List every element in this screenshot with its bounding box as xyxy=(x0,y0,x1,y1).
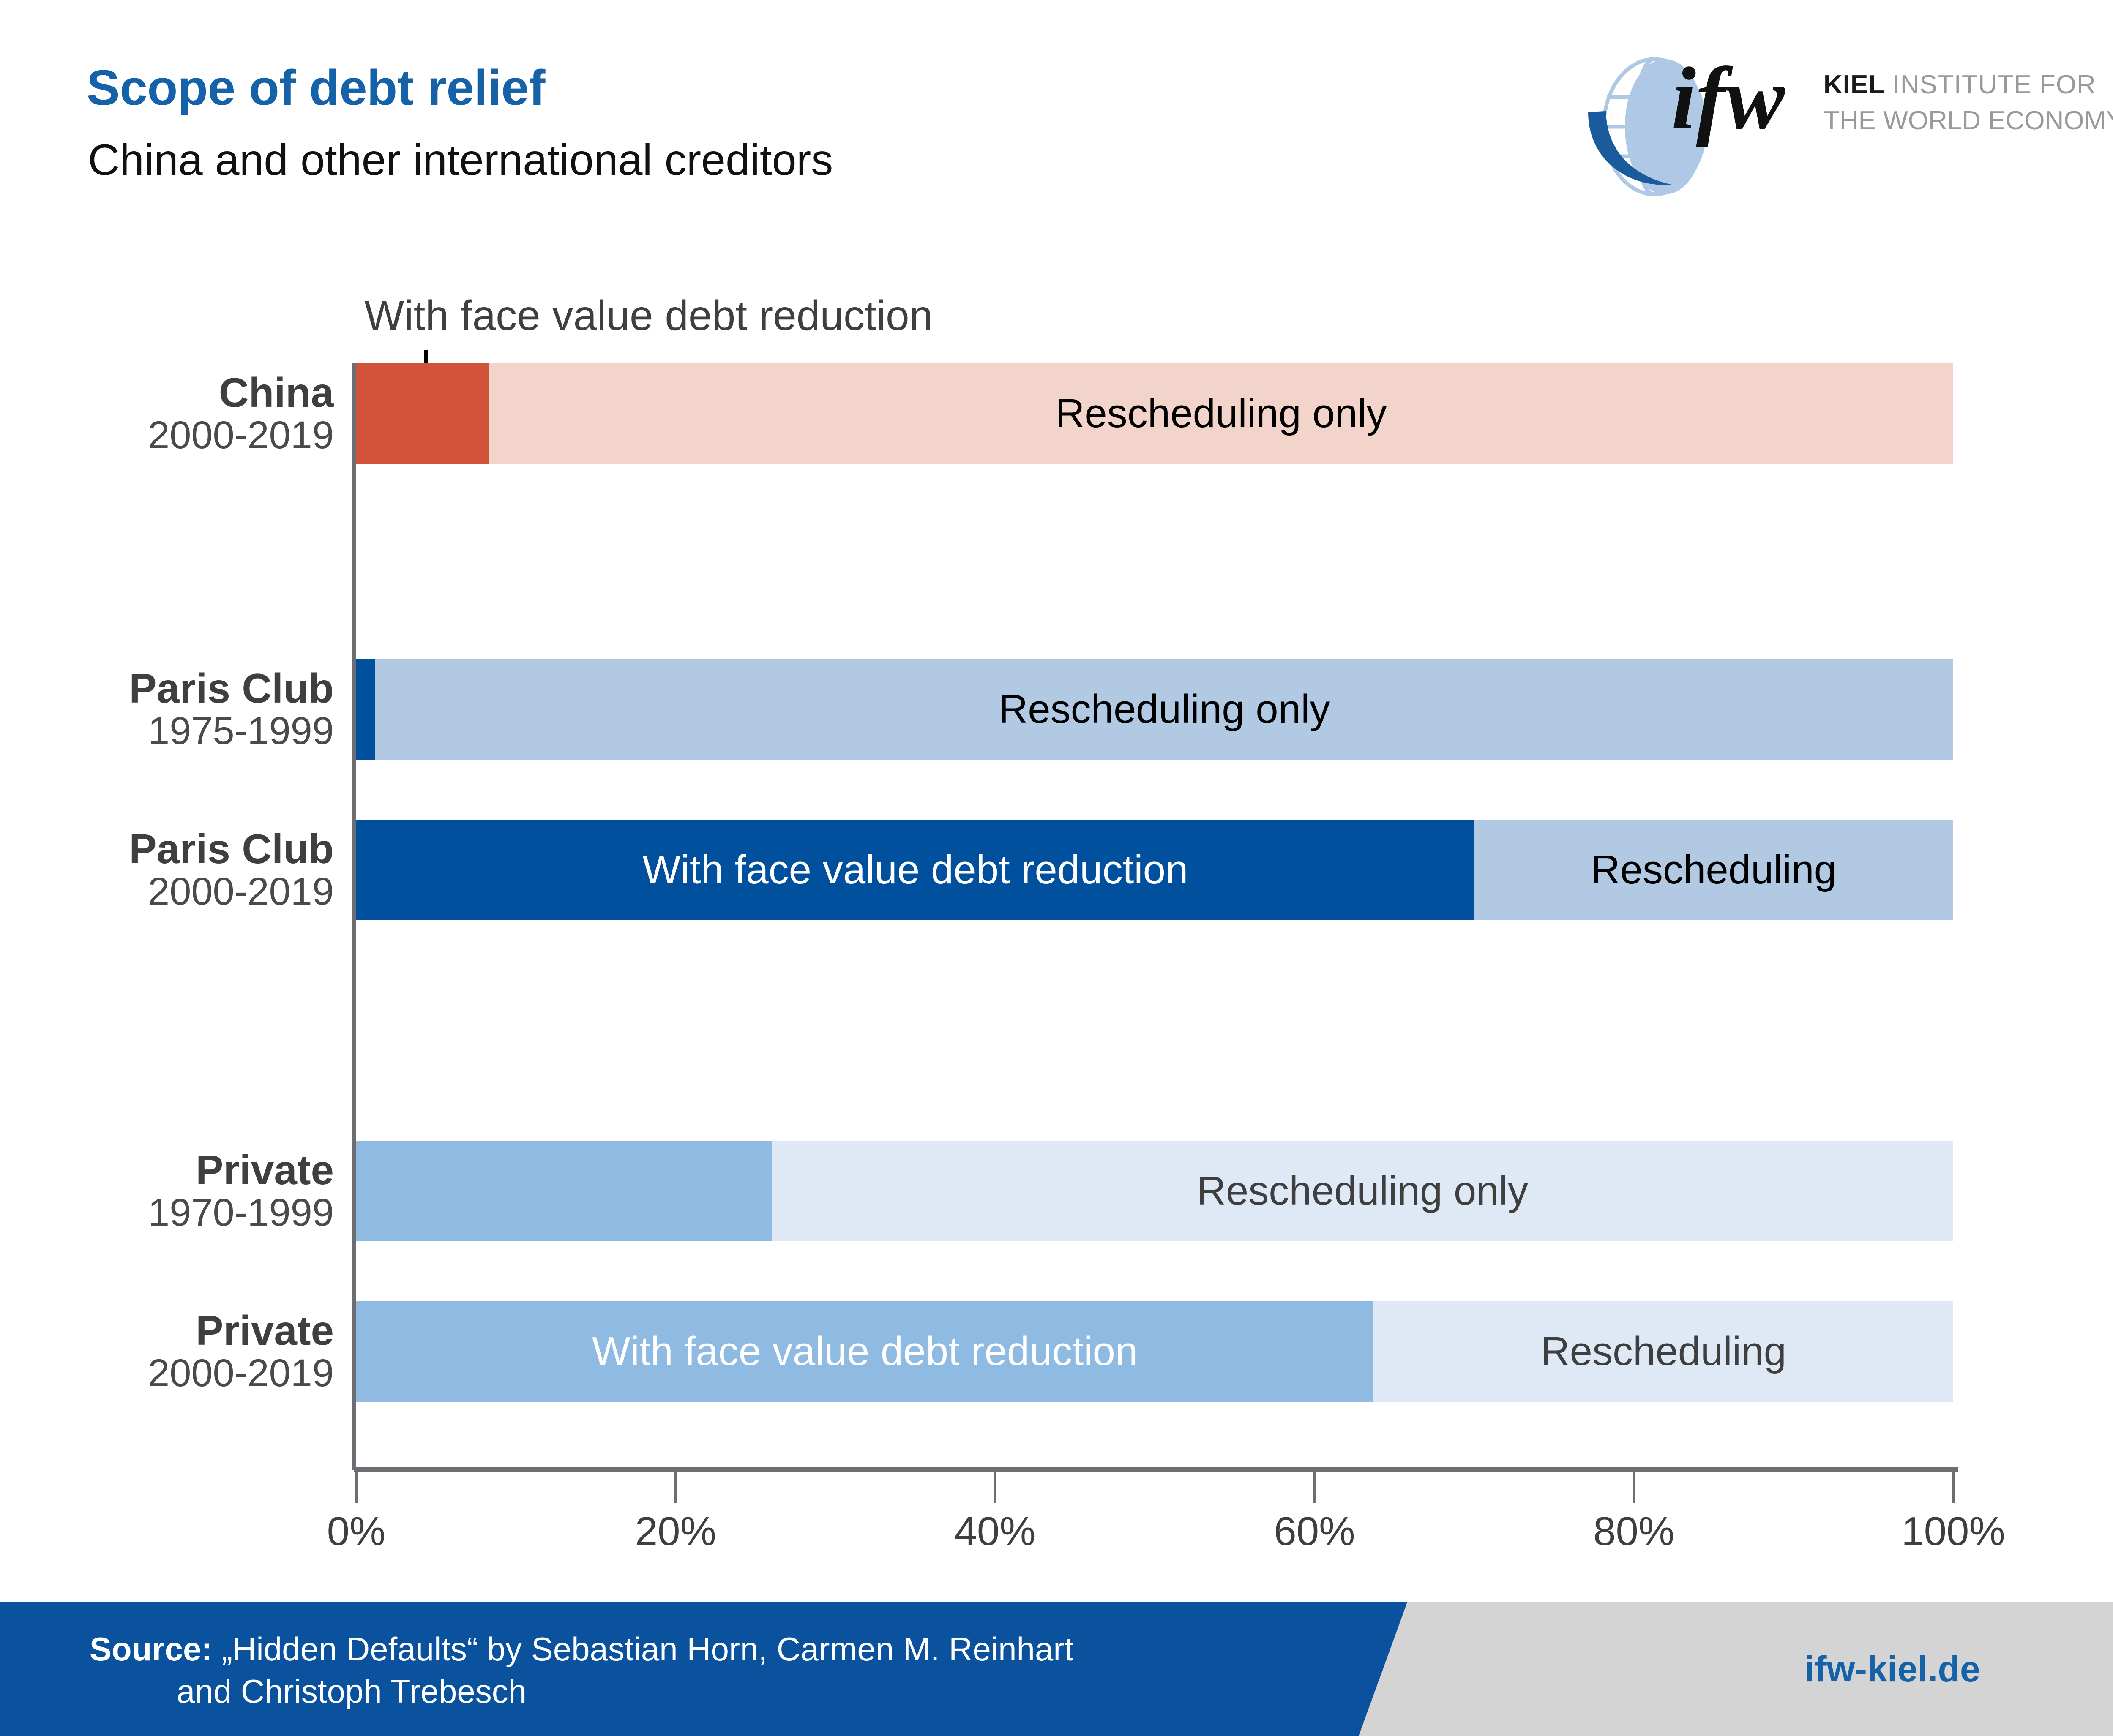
logo-kiel-word: KIEL xyxy=(1824,70,1885,99)
bar-segment-label: With face value debt reduction xyxy=(592,1328,1138,1375)
category-label: Paris Club1975-1999 xyxy=(0,667,334,752)
source-note: Source: „Hidden Defaults“ by Sebastian H… xyxy=(90,1628,1073,1713)
category-label: Private2000-2019 xyxy=(0,1309,334,1394)
website-url[interactable]: ifw-kiel.de xyxy=(1805,1649,1980,1690)
category-years: 2000-2019 xyxy=(0,415,334,456)
source-text-line1: „Hidden Defaults“ by Sebastian Horn, Car… xyxy=(221,1630,1073,1668)
bar-segment: Rescheduling only xyxy=(772,1141,1953,1241)
bar-segment xyxy=(356,363,489,464)
y-axis-line xyxy=(352,363,356,1470)
x-axis-tick-label: 0% xyxy=(327,1508,386,1555)
bar-row: Rescheduling only xyxy=(356,363,1953,464)
bar-segment xyxy=(356,1141,772,1241)
bar-segment: With face value debt reduction xyxy=(356,820,1474,920)
bar-segment-label: Rescheduling xyxy=(1591,847,1837,893)
chart-area: With face value debt reduction Reschedul… xyxy=(0,237,2113,1563)
bar-row: Rescheduling only xyxy=(356,1141,1953,1241)
logo-kiel-line1: KIEL INSTITUTE FOR xyxy=(1824,72,2096,98)
bar-row: With face value debt reductionRescheduli… xyxy=(356,820,1953,920)
category-label: Paris Club2000-2019 xyxy=(0,827,334,912)
bar-segment: With face value debt reduction xyxy=(356,1301,1373,1402)
category-years: 2000-2019 xyxy=(0,1353,334,1394)
x-axis-tick xyxy=(994,1470,996,1503)
category-years: 1970-1999 xyxy=(0,1192,334,1234)
x-axis-line xyxy=(354,1467,1958,1472)
x-axis-tick xyxy=(674,1470,677,1503)
category-label: China2000-2019 xyxy=(0,371,334,456)
bar-row: Rescheduling only xyxy=(356,659,1953,760)
ifw-kiel-logo: ifw KIEL INSTITUTE FOR THE WORLD ECONOMY xyxy=(1581,40,2079,201)
source-text-line2: and Christoph Trebesch xyxy=(177,1671,527,1713)
bar-segment xyxy=(356,659,375,760)
logo-institute-line1: INSTITUTE FOR xyxy=(1892,70,2096,99)
x-axis-tick-label: 80% xyxy=(1593,1508,1674,1555)
page-header: Scope of debt relief China and other int… xyxy=(0,0,2113,237)
bar-segment: Rescheduling xyxy=(1474,820,1953,920)
logo-institute-line2: THE WORLD ECONOMY xyxy=(1824,108,2113,134)
category-name: Paris Club xyxy=(0,667,334,711)
x-axis-tick-label: 100% xyxy=(1901,1508,2005,1555)
bar-segment: Rescheduling xyxy=(1373,1301,1953,1402)
bar-segment: Rescheduling only xyxy=(489,363,1953,464)
bar-row: With face value debt reductionRescheduli… xyxy=(356,1301,1953,1402)
page-footer: Source: „Hidden Defaults“ by Sebastian H… xyxy=(0,1602,2113,1736)
x-axis-tick-label: 60% xyxy=(1274,1508,1355,1555)
x-axis-tick-label: 20% xyxy=(635,1508,716,1555)
bar-segment-label: With face value debt reduction xyxy=(642,847,1188,893)
category-name: China xyxy=(0,371,334,415)
x-axis-tick xyxy=(355,1470,358,1503)
x-axis-tick xyxy=(1633,1470,1635,1503)
category-name: Private xyxy=(0,1309,334,1353)
category-name: Paris Club xyxy=(0,827,334,871)
source-label: Source: xyxy=(90,1630,212,1668)
page-subtitle: China and other international creditors xyxy=(88,135,833,185)
bar-segment-label: Rescheduling xyxy=(1540,1328,1786,1375)
x-axis-tick xyxy=(1313,1470,1316,1503)
bar-segment: Rescheduling only xyxy=(375,659,1953,760)
bar-segment-label: Rescheduling only xyxy=(1197,1168,1529,1214)
x-axis-tick xyxy=(1952,1470,1955,1503)
category-name: Private xyxy=(0,1148,334,1192)
category-years: 1975-1999 xyxy=(0,711,334,752)
page-title: Scope of debt relief xyxy=(87,59,545,117)
x-axis-tick-label: 40% xyxy=(955,1508,1036,1555)
category-label: Private1970-1999 xyxy=(0,1148,334,1233)
annotation-label: With face value debt reduction xyxy=(364,292,933,340)
ifw-wordmark: ifw xyxy=(1671,52,1811,149)
bar-segment-label: Rescheduling only xyxy=(1055,390,1387,437)
category-years: 2000-2019 xyxy=(0,871,334,913)
svg-text:ifw: ifw xyxy=(1671,52,1785,147)
bar-segment-label: Rescheduling only xyxy=(999,686,1330,733)
